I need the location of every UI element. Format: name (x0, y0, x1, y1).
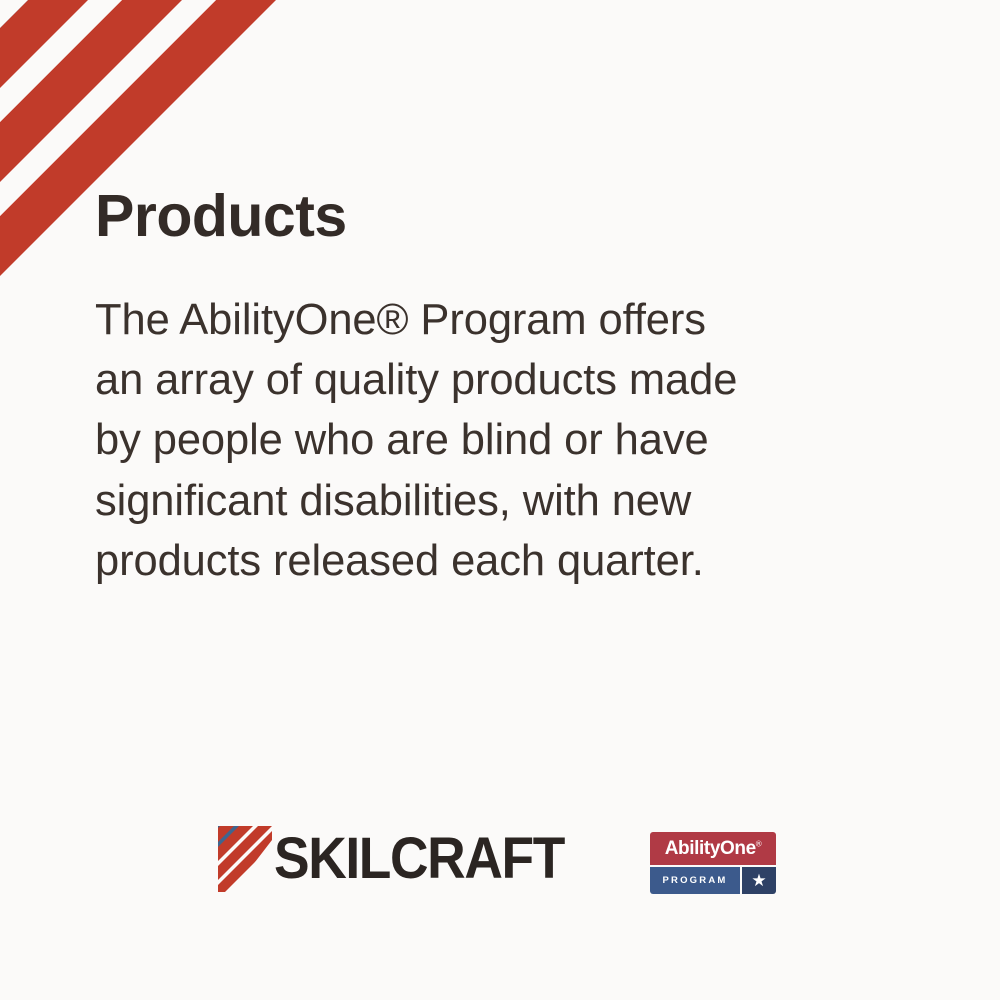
skilcraft-flag-mark-icon (218, 826, 272, 892)
skilcraft-wordmark: SKILCRAFT (274, 830, 564, 888)
abilityone-wordmark: AbilityOne® (665, 839, 762, 858)
body-copy: The AbilityOne® Program offers an array … (95, 290, 885, 591)
body-line: products released each quarter. (95, 531, 885, 591)
registered-trademark-icon: ® (756, 840, 762, 849)
abilityone-logo: AbilityOne® PROGRAM ★ (650, 832, 776, 894)
page-title: Products (95, 186, 885, 248)
body-line: The AbilityOne® Program offers (95, 290, 885, 350)
body-line: significant disabilities, with new (95, 471, 885, 531)
abilityone-wordmark-text: AbilityOne (665, 838, 756, 859)
body-line: by people who are blind or have (95, 410, 885, 470)
footer-logo-row: SKILCRAFT AbilityOne® PROGRAM ★ (0, 820, 1000, 920)
body-line: an array of quality products made (95, 350, 885, 410)
skilcraft-flag-svg (218, 826, 272, 892)
abilityone-blue-band: PROGRAM ★ (650, 867, 776, 894)
abilityone-program-label: PROGRAM (662, 876, 727, 886)
abilityone-program-block: PROGRAM (650, 867, 740, 894)
abilityone-star-box: ★ (742, 867, 776, 894)
abilityone-red-band: AbilityOne® (650, 832, 776, 865)
skilcraft-logo: SKILCRAFT (218, 826, 589, 892)
main-content: Products The AbilityOne® Program offers … (95, 186, 885, 591)
corner-flag-blue-field (0, 0, 118, 118)
star-icon: ★ (751, 872, 766, 889)
